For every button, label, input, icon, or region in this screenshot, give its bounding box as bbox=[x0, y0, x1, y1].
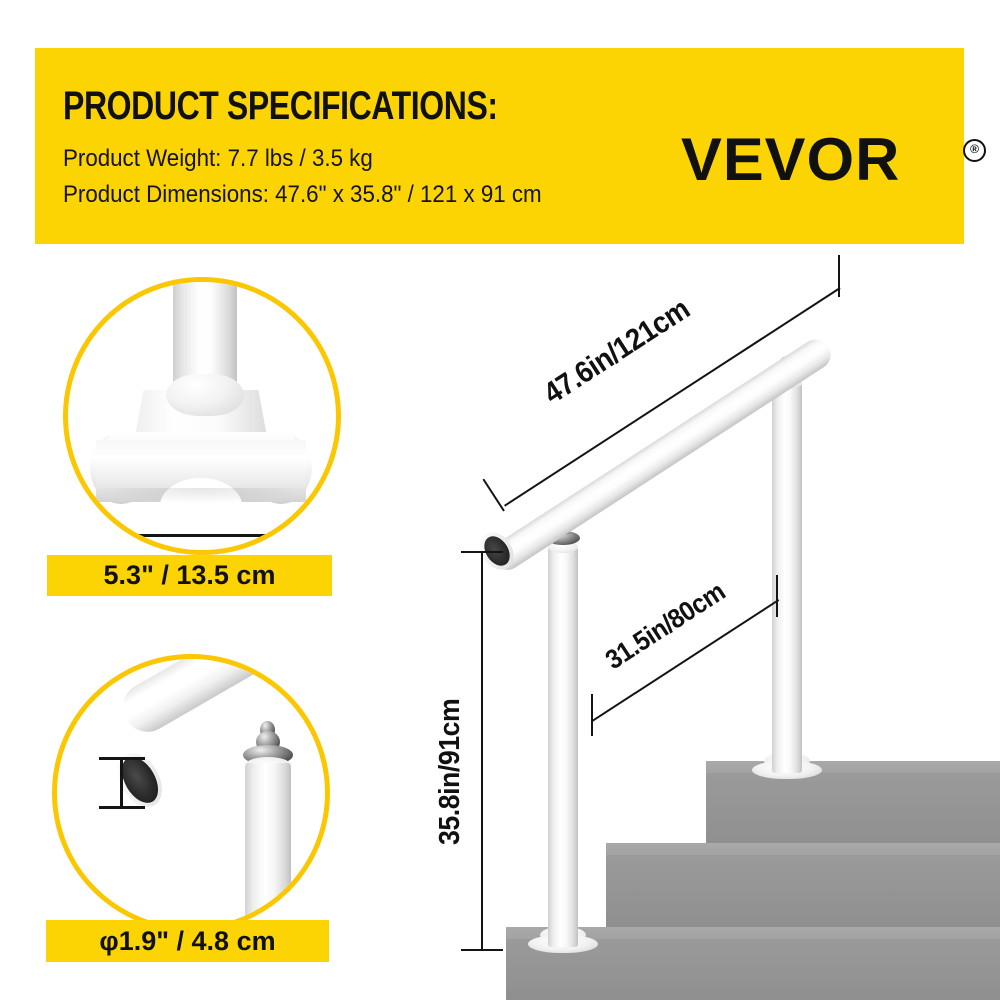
rule-line bbox=[100, 534, 296, 537]
dim-rail-length-cap-start bbox=[482, 479, 504, 512]
detail-circle-tube-diameter bbox=[52, 654, 330, 932]
main-product-illustration: 47.6in/121cm 31.5in/80cm 35.8in/91cm bbox=[420, 255, 1000, 1000]
registered-trademark-icon: ® bbox=[963, 139, 986, 162]
dim-post-height-line bbox=[481, 551, 483, 951]
tube-diameter-rule bbox=[99, 755, 145, 811]
tube-post bbox=[245, 763, 291, 923]
dim-post-height-cap-top bbox=[461, 551, 503, 553]
dim-label-post-span: 31.5in/80cm bbox=[600, 576, 731, 676]
base-plate-tube-foot bbox=[166, 374, 244, 416]
step-3-face bbox=[706, 773, 1000, 847]
page-title: PRODUCT SPECIFICATIONS: bbox=[63, 86, 498, 126]
tube-rail bbox=[114, 654, 330, 741]
dim-post-height-cap-bottom bbox=[461, 949, 503, 951]
dim-post-span-cap-start bbox=[591, 694, 593, 736]
step-2-face bbox=[606, 855, 1000, 931]
rule-cap-right bbox=[293, 518, 296, 552]
detail-circle-base-plate bbox=[63, 277, 341, 555]
caption-base-plate-width: 5.3" / 13.5 cm bbox=[47, 555, 332, 596]
brand-wordmark: VEVOR bbox=[681, 130, 900, 190]
rule-cap-top bbox=[99, 757, 145, 760]
spec-weight-line: Product Weight: 7.7 lbs / 3.5 kg bbox=[63, 147, 373, 171]
spec-banner: PRODUCT SPECIFICATIONS: Product Weight: … bbox=[35, 48, 964, 244]
dim-post-span-cap-end bbox=[776, 575, 778, 617]
rule-cap-bottom bbox=[99, 806, 145, 809]
dim-label-post-height: 35.8in/91cm bbox=[434, 699, 467, 845]
base-plate-shadow bbox=[94, 488, 308, 504]
vevor-logo: VEVOR ® bbox=[681, 130, 971, 192]
post-left bbox=[548, 547, 578, 947]
caption-tube-diameter: φ1.9" / 4.8 cm bbox=[46, 920, 329, 962]
product-spec-image: PRODUCT SPECIFICATIONS: Product Weight: … bbox=[0, 0, 1000, 1000]
rule-cap-left bbox=[100, 518, 103, 552]
dim-label-rail-length: 47.6in/121cm bbox=[538, 292, 696, 411]
base-plate-width-rule bbox=[98, 518, 298, 552]
dim-rail-length-cap-end bbox=[838, 255, 840, 297]
spec-dimensions-line: Product Dimensions: 47.6" x 35.8" / 121 … bbox=[63, 183, 542, 207]
rule-line bbox=[120, 757, 123, 809]
